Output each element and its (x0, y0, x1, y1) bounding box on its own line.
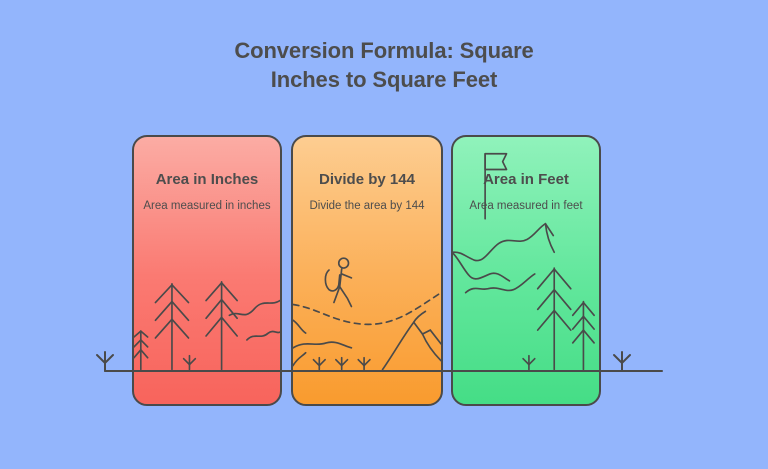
infographic-canvas: Conversion Formula: Square Inches to Squ… (0, 0, 768, 469)
hiker-icon (325, 258, 351, 306)
mountain-ridge-icon (423, 334, 442, 361)
grass-sprig-icon (358, 358, 370, 370)
mountain-ridge-icon (229, 301, 280, 316)
mountain-ridge-icon (293, 342, 351, 348)
pine-tree-icon (134, 331, 148, 369)
pine-tree-icon (538, 268, 571, 369)
card-title-divide-by-144: Divide by 144 (291, 171, 443, 188)
grass-sprig-icon (313, 358, 325, 370)
mountain-ridge-icon (545, 224, 554, 253)
grass-sprig-icon (336, 358, 348, 370)
mountain-ridge-icon (466, 274, 535, 293)
card-description-area-in-feet: Area measured in feet (451, 199, 601, 215)
grass-sprig-icon (614, 352, 630, 371)
mountain-ridge-icon (414, 311, 426, 322)
grass-sprig-icon (184, 356, 196, 370)
pine-tree-icon (155, 284, 188, 370)
pine-tree-icon (206, 282, 237, 370)
dashed-trail-icon (293, 293, 441, 325)
mountain-ridge-icon (293, 320, 306, 333)
grass-sprig-icon (523, 356, 535, 370)
mountain-ridge-icon (383, 322, 441, 369)
mountain-ridge-icon (453, 253, 509, 281)
mountain-ridge-icon (453, 224, 553, 261)
card-description-area-in-inches: Area measured in inches (132, 199, 282, 215)
page-title: Conversion Formula: Square Inches to Squ… (134, 36, 634, 95)
card-description-divide-by-144: Divide the area by 144 (291, 199, 443, 215)
card-title-area-in-feet: Area in Feet (451, 171, 601, 188)
mountain-ridge-icon (293, 353, 306, 366)
pine-tree-icon (573, 302, 594, 370)
card-title-area-in-inches: Area in Inches (132, 171, 282, 188)
mountain-ridge-icon (247, 331, 280, 339)
grass-sprig-icon (97, 352, 113, 371)
